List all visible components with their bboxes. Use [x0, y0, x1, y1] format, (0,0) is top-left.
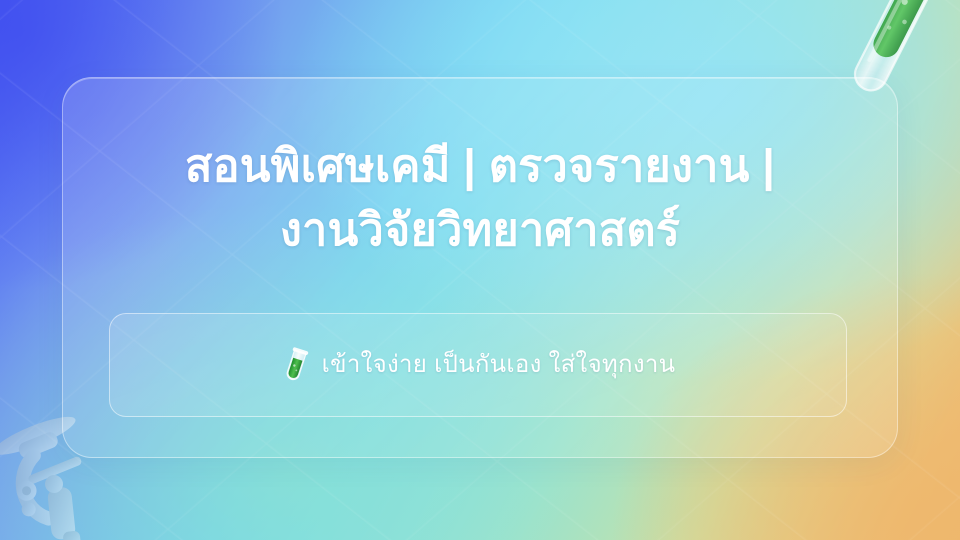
title-line-2: งานวิจัยวิทยาศาสตร์	[63, 198, 897, 262]
page-title: สอนพิเศษเคมี | ตรวจรายงาน | งานวิจัยวิทย…	[63, 134, 897, 262]
banner-canvas: สอนพิเศษเคมี | ตรวจรายงาน | งานวิจัยวิทย…	[0, 0, 960, 540]
hero-glass-card: สอนพิเศษเคมี | ตรวจรายงาน | งานวิจัยวิทย…	[62, 77, 898, 458]
test-tube-emoji-icon	[276, 344, 315, 386]
subtitle-panel: เข้าใจง่าย เป็นกันเอง ใส่ใจทุกงาน	[109, 313, 847, 417]
subtitle-text: เข้าใจง่าย เป็นกันเอง ใส่ใจทุกงาน	[322, 349, 676, 380]
title-line-1: สอนพิเศษเคมี | ตรวจรายงาน |	[63, 134, 897, 198]
